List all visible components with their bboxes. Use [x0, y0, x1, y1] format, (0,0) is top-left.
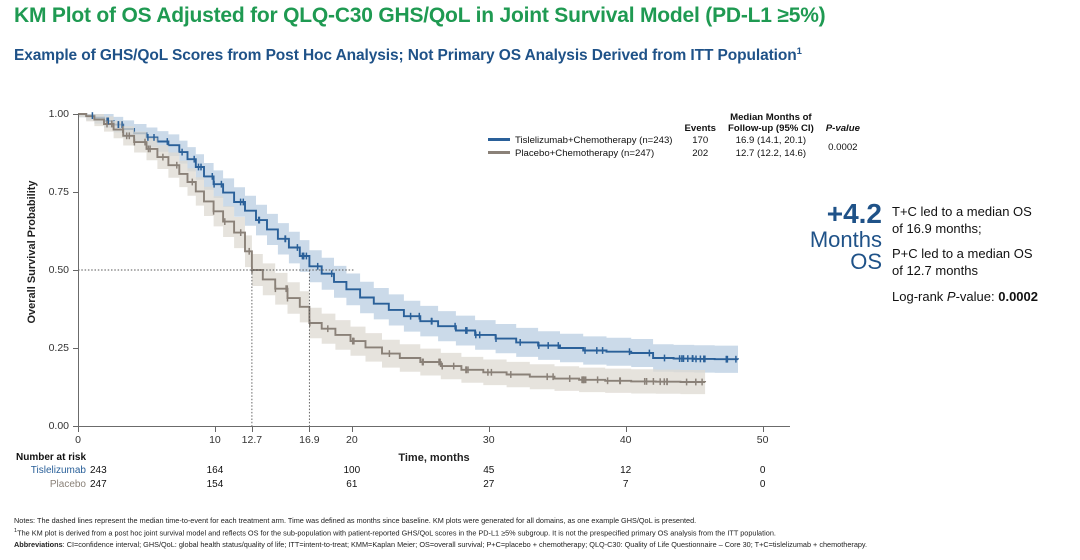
legend-header-followup: Median Months of Follow-up (95% CI): [722, 112, 820, 135]
x-axis-tick: [352, 427, 353, 432]
page-subtitle: Example of GHS/QoL Scores from Post Hoc …: [14, 47, 1064, 65]
risk-value: 12: [606, 465, 646, 476]
callout-logrank-value: 0.0002: [998, 289, 1038, 304]
x-axis-line: [78, 426, 790, 427]
y-axis-tick: [73, 270, 78, 271]
y-axis-tick-label: 0.00: [29, 420, 69, 432]
y-axis-tick: [73, 192, 78, 193]
callout-logrank-prefix: Log-rank: [892, 289, 947, 304]
legend-label-placebo: Placebo+Chemotherapy (n=247): [515, 148, 654, 159]
footnote-abbreviations-text: : CI=confidence interval; GHS/QoL: globa…: [63, 540, 867, 549]
x-axis-tick-label: 30: [459, 434, 519, 446]
legend-label-tislelizumab: Tislelizumab+Chemotherapy (n=243): [515, 135, 673, 146]
x-axis-tick: [489, 427, 490, 432]
legend-header-pvalue: P-value: [820, 112, 866, 135]
x-axis-tick-label: 0: [48, 434, 108, 446]
x-axis-tick: [252, 427, 253, 432]
page-title: KM Plot of OS Adjusted for QLQ-C30 GHS/Q…: [14, 4, 1064, 28]
legend-series-placebo: Placebo+Chemotherapy (n=247): [488, 148, 679, 161]
callout-line3: P+C led to a median OS: [892, 246, 1033, 261]
callout-line2: of 16.9 months;: [892, 221, 982, 236]
legend-header-series: [488, 112, 679, 135]
callout-line4: of 12.7 months: [892, 263, 978, 278]
legend-header-followup-line1: Median Months of: [730, 112, 812, 123]
y-axis-tick-label: 0.25: [29, 342, 69, 354]
x-axis-tick: [215, 427, 216, 432]
subtitle-footnote-marker: 1: [797, 46, 802, 57]
page-subtitle-text: Example of GHS/QoL Scores from Post Hoc …: [14, 47, 797, 64]
legend-events-tislelizumab: 170: [679, 135, 722, 148]
risk-value: 61: [332, 479, 372, 490]
legend-swatch-placebo: [488, 151, 510, 154]
x-axis-tick: [763, 427, 764, 432]
summary-callout: +4.2 Months OS T+C led to a median OS of…: [800, 200, 1075, 305]
callout-headline: +4.2 Months OS: [800, 200, 882, 305]
callout-logrank-mid: -value:: [956, 289, 999, 304]
x-axis-tick-label: 50: [733, 434, 793, 446]
y-axis-tick-label: 0.50: [29, 264, 69, 276]
risk-row-label-placebo: Placebo: [0, 479, 86, 490]
callout-paragraph-tc: T+C led to a median OS of 16.9 months;: [892, 203, 1038, 237]
callout-os-label: OS: [800, 251, 882, 273]
x-axis-tick-label: 40: [596, 434, 656, 446]
risk-value: 154: [195, 479, 235, 490]
risk-value: 100: [332, 465, 372, 476]
footnote-notes: Notes: The dashed lines represent the me…: [14, 515, 1070, 527]
footnote-abbreviations-label: Abbreviations: [14, 540, 63, 549]
x-axis-tick-label: 12.7: [222, 434, 282, 446]
legend-header-events: Events: [679, 112, 722, 135]
legend-swatch-tislelizumab: [488, 138, 510, 141]
legend-row: Tislelizumab+Chemotherapy (n=243) 170 16…: [488, 135, 866, 148]
legend-header-followup-line2: Follow-up (95% CI): [728, 123, 814, 134]
legend-events-placebo: 202: [679, 148, 722, 161]
number-at-risk-title: Number at risk: [16, 452, 86, 463]
callout-logrank: Log-rank P-value: 0.0002: [892, 288, 1038, 305]
legend-table: Events Median Months of Follow-up (95% C…: [488, 112, 866, 161]
risk-row-label-tislelizumab: Tislelizumab: [0, 465, 86, 476]
risk-value: 164: [195, 465, 235, 476]
callout-body: T+C led to a median OS of 16.9 months; P…: [892, 200, 1038, 305]
risk-value: 0: [743, 465, 783, 476]
x-axis-tick: [78, 427, 79, 432]
risk-value: 0: [743, 479, 783, 490]
x-axis-tick: [626, 427, 627, 432]
x-axis-tick: [309, 427, 310, 432]
legend-pvalue: 0.0002: [820, 135, 866, 161]
callout-paragraph-pc: P+C led to a median OS of 12.7 months: [892, 245, 1038, 279]
risk-value: 27: [469, 479, 509, 490]
y-axis-tick: [73, 114, 78, 115]
y-axis-line: [78, 114, 79, 426]
footnote-km-derivation: 1The KM plot is derived from a post hoc …: [14, 527, 1070, 539]
legend-followup-placebo: 12.7 (12.2, 14.6): [722, 148, 820, 161]
y-axis-tick: [73, 348, 78, 349]
callout-line1: T+C led to a median OS: [892, 204, 1032, 219]
x-axis-title: Time, months: [354, 452, 514, 464]
footnotes: Notes: The dashed lines represent the me…: [14, 515, 1070, 551]
footnote-abbreviations: Abbreviations: CI=confidence interval; G…: [14, 539, 1070, 551]
risk-value: 243: [90, 465, 107, 476]
y-axis-tick-label: 0.75: [29, 186, 69, 198]
legend-followup-tislelizumab: 16.9 (14.1, 20.1): [722, 135, 820, 148]
risk-value: 45: [469, 465, 509, 476]
risk-value: 247: [90, 479, 107, 490]
footnote-km-derivation-text: The KM plot is derived from a post hoc j…: [17, 528, 776, 537]
chart-legend: Events Median Months of Follow-up (95% C…: [488, 112, 866, 161]
risk-value: 7: [606, 479, 646, 490]
callout-delta-value: +4.2: [800, 200, 882, 229]
legend-series-tislelizumab: Tislelizumab+Chemotherapy (n=243): [488, 135, 679, 148]
legend-row: Placebo+Chemotherapy (n=247) 202 12.7 (1…: [488, 148, 866, 161]
callout-months-label: Months: [800, 229, 882, 251]
y-axis-tick-label: 1.00: [29, 108, 69, 120]
callout-logrank-p: P: [947, 289, 956, 304]
x-axis-tick-label: 20: [322, 434, 382, 446]
